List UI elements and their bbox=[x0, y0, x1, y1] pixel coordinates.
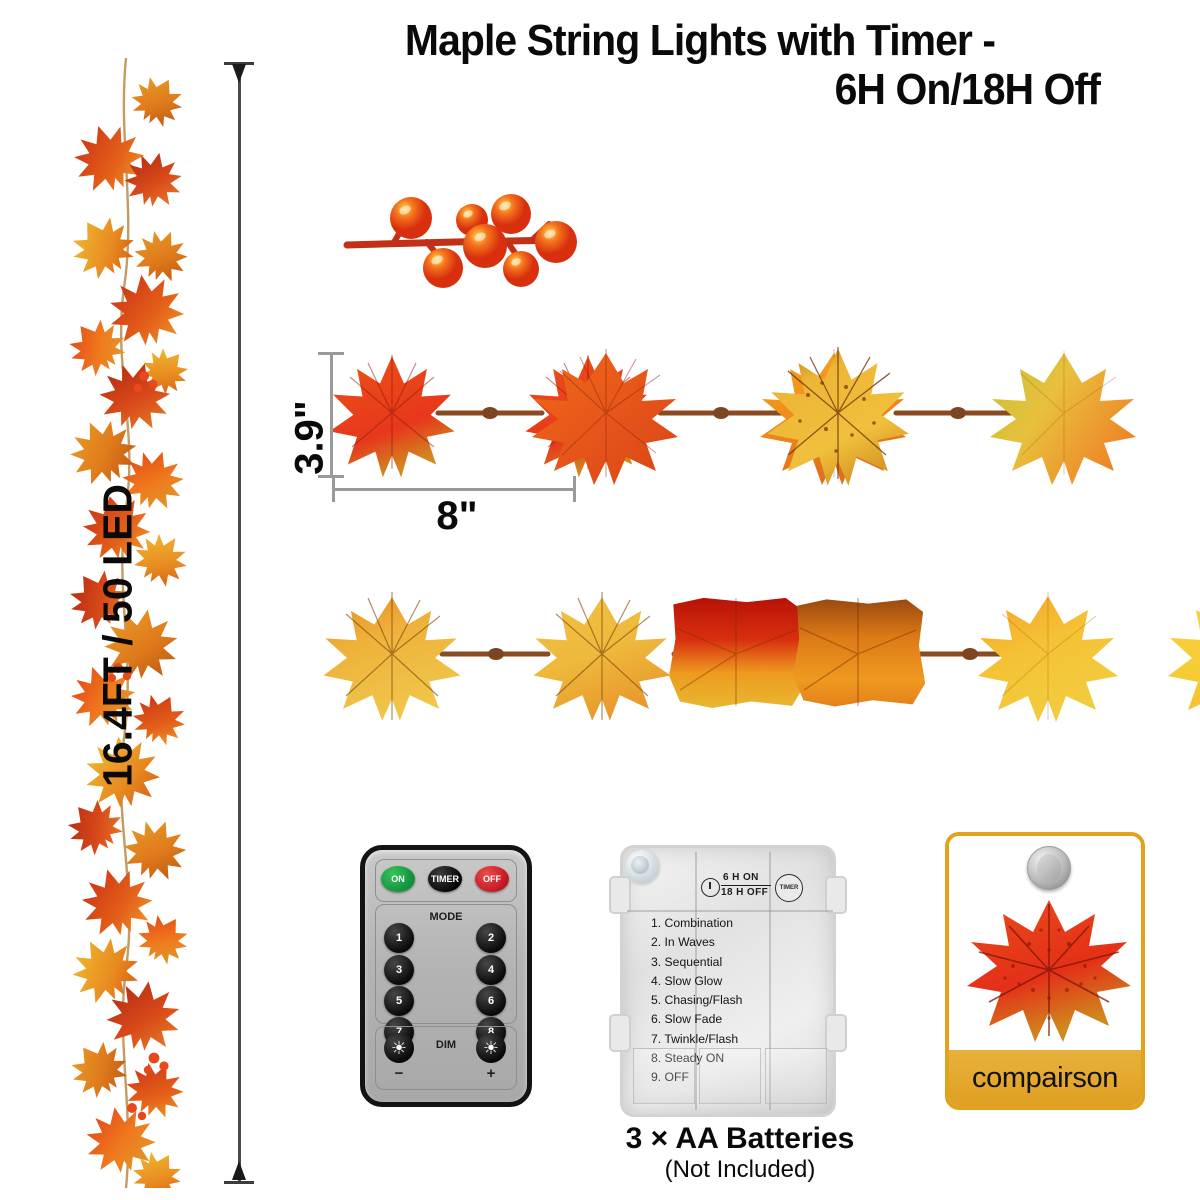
length-dimension-line bbox=[238, 62, 241, 1184]
brightness-up-icon[interactable]: ☀ bbox=[476, 1033, 506, 1063]
remote-mode-label: MODE bbox=[420, 911, 472, 923]
mode-list-item: 6. Slow Fade bbox=[651, 1010, 821, 1029]
remote-mode-5[interactable]: 5 bbox=[384, 986, 414, 1016]
remote-mode-group: MODE 1 2 3 4 5 6 7 8 bbox=[375, 904, 517, 1024]
coin-reference bbox=[1027, 846, 1071, 890]
leaf bbox=[1168, 596, 1200, 722]
clock-icon bbox=[701, 878, 720, 897]
remote-mode-1[interactable]: 1 bbox=[384, 923, 414, 953]
remote-mode-3[interactable]: 3 bbox=[384, 955, 414, 985]
battery-slot bbox=[633, 1048, 695, 1104]
timer-off-label: 18 H OFF bbox=[721, 887, 768, 898]
brightness-down-icon[interactable]: ☀ bbox=[384, 1033, 414, 1063]
comparison-image-area bbox=[949, 836, 1141, 1050]
leaf bbox=[669, 598, 805, 708]
mode-list-item: 2. In Waves bbox=[651, 933, 821, 952]
battery-timer-button[interactable]: TIMER bbox=[775, 874, 803, 902]
remote-off-button[interactable]: OFF bbox=[475, 866, 509, 892]
clock-hand bbox=[709, 882, 711, 889]
battery-box-clip bbox=[825, 1014, 847, 1052]
battery-slot bbox=[699, 1048, 761, 1104]
mode-list-item: 7. Twinkle/Flash bbox=[651, 1030, 821, 1049]
leaf bbox=[323, 592, 460, 721]
leaf-row-2 bbox=[330, 572, 1180, 742]
remote-on-button[interactable]: ON bbox=[381, 866, 415, 892]
remote-mode-6[interactable]: 6 bbox=[476, 986, 506, 1016]
leaf bbox=[978, 592, 1118, 722]
remote-timer-button[interactable]: TIMER bbox=[428, 866, 462, 892]
leaf bbox=[533, 592, 670, 721]
battery-caption-line-1: 3 × AA Batteries bbox=[580, 1122, 900, 1156]
length-dimension-cap-bottom bbox=[224, 1181, 254, 1184]
battery-box-clip bbox=[609, 1014, 631, 1052]
battery-box[interactable]: 6 H ON 18 H OFF TIMER 1. Combination 2. … bbox=[620, 845, 836, 1117]
coin-portrait bbox=[1037, 854, 1061, 882]
infographic-canvas: Maple String Lights with Timer - 6H On/1… bbox=[0, 0, 1200, 1200]
battery-caption: 3 × AA Batteries (Not Included) bbox=[580, 1122, 900, 1183]
mode-list-item: 5. Chasing/Flash bbox=[651, 991, 821, 1010]
comparison-label-bar: compairson bbox=[949, 1050, 1141, 1106]
leaf-height-label: 3.9" bbox=[288, 338, 333, 538]
leaf-spacing-dimension-line bbox=[332, 488, 576, 491]
mode-list-item: 4. Slow Glow bbox=[651, 972, 821, 991]
leaf-spacing-cap-left bbox=[332, 476, 335, 502]
leaf bbox=[329, 355, 454, 477]
remote-dim-plus-label: + bbox=[481, 1065, 501, 1082]
battery-slot bbox=[765, 1048, 827, 1104]
leaf-row-1 bbox=[330, 325, 1180, 505]
page-title: Maple String Lights with Timer - 6H On/1… bbox=[272, 16, 1128, 115]
leaf bbox=[990, 351, 1136, 485]
battery-box-clip bbox=[609, 876, 631, 914]
remote-dim-group: DIM ☀ ☀ − + bbox=[375, 1026, 517, 1090]
title-line-1: Maple String Lights with Timer - bbox=[405, 16, 995, 65]
length-arrow-up-icon bbox=[232, 64, 246, 83]
remote-mode-4[interactable]: 4 bbox=[476, 955, 506, 985]
power-switch-knob bbox=[631, 856, 649, 874]
remote-dim-label: DIM bbox=[424, 1039, 468, 1051]
leaf-spacing-cap-right bbox=[573, 476, 576, 502]
battery-box-clip bbox=[825, 876, 847, 914]
battery-box-seam bbox=[627, 910, 833, 912]
title-line-2: 6H On/18H Off bbox=[272, 65, 1128, 114]
mode-list-item: 1. Combination bbox=[651, 914, 821, 933]
leaf bbox=[793, 598, 925, 707]
comparison-leaf bbox=[949, 886, 1145, 1051]
remote-dim-minus-label: − bbox=[389, 1065, 409, 1082]
timer-on-label: 6 H ON bbox=[723, 872, 759, 883]
remote-control[interactable]: ON TIMER OFF MODE 1 2 3 4 5 6 7 8 DIM ☀ … bbox=[360, 845, 532, 1107]
remote-mode-2[interactable]: 2 bbox=[476, 923, 506, 953]
berry-sprig-photo bbox=[335, 190, 595, 295]
leaf-spacing-label: 8" bbox=[382, 494, 532, 539]
length-dimension-label: 16.4FT / 50 LED bbox=[95, 426, 142, 846]
battery-caption-line-2: (Not Included) bbox=[580, 1156, 900, 1184]
length-arrow-down-icon bbox=[232, 1161, 246, 1180]
sun-glyph: ☀ bbox=[483, 1039, 499, 1057]
sun-glyph: ☀ bbox=[391, 1039, 407, 1057]
size-comparison-card: compairson bbox=[945, 832, 1145, 1110]
remote-power-group: ON TIMER OFF bbox=[375, 859, 517, 902]
mode-list-item: 3. Sequential bbox=[651, 953, 821, 972]
comparison-label: compairson bbox=[972, 1062, 1118, 1095]
